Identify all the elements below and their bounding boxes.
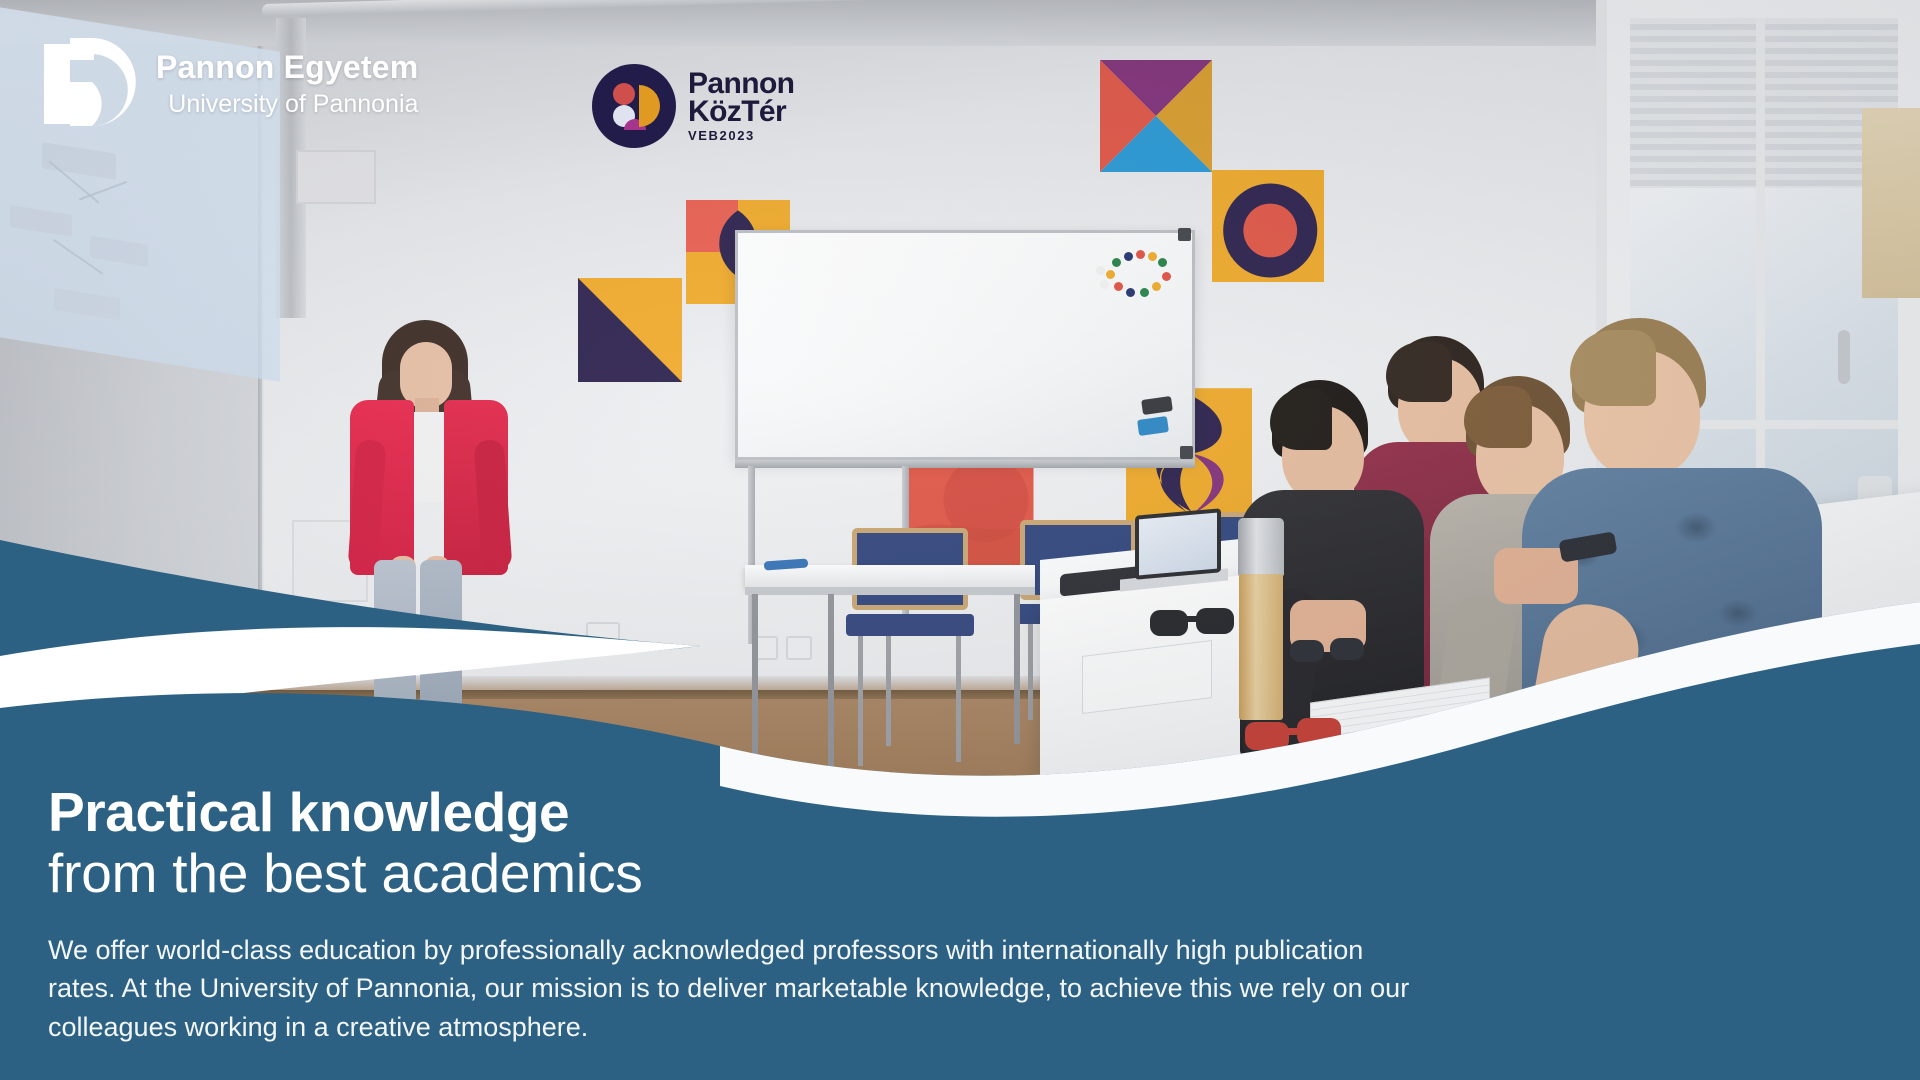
- magnet: [1158, 258, 1167, 267]
- magnet: [1124, 252, 1133, 261]
- brand-lockup: Pannon Egyetem University of Pannonia: [40, 34, 418, 134]
- magnet: [1112, 258, 1121, 267]
- magnet: [1148, 252, 1157, 261]
- magnet: [1136, 250, 1145, 259]
- pannon-p-mark-icon: [40, 34, 136, 134]
- body-line-3: colleagues working in a creative atmosph…: [48, 1008, 1872, 1046]
- whiteboard: [735, 230, 1195, 460]
- kozter-line2: KözTér: [688, 98, 794, 126]
- kozter-line1: Pannon: [688, 70, 794, 98]
- decal-navy-orange-triangles: [578, 278, 682, 382]
- banner-copy: Practical knowledge from the best academ…: [0, 783, 1920, 1080]
- wall-picture-small: [296, 150, 376, 204]
- brand-text: Pannon Egyetem University of Pannonia: [156, 51, 418, 117]
- kozter-line3: VEB2023: [688, 130, 794, 142]
- magnet: [1162, 272, 1171, 281]
- wall-poster-right: [1862, 108, 1920, 298]
- banner-body: We offer world-class education by profes…: [48, 931, 1872, 1046]
- magnet: [1140, 288, 1149, 297]
- pannon-kozter-circle-icon: [592, 64, 676, 148]
- whiteboard-corner: [1180, 446, 1193, 459]
- body-line-2: rates. At the University of Pannonia, ou…: [48, 969, 1872, 1007]
- whiteboard-corner: [1178, 228, 1191, 241]
- whiteboard-tray: [735, 460, 1195, 468]
- magnet: [1096, 266, 1105, 275]
- magnet: [1126, 288, 1135, 297]
- kozter-text: Pannon KözTér VEB2023: [688, 70, 794, 141]
- magnet: [1152, 282, 1161, 291]
- headline-bold: Practical knowledge: [48, 783, 1872, 841]
- magnet: [1114, 282, 1123, 291]
- brand-name-en: University of Pannonia: [156, 92, 418, 117]
- magnet: [1100, 280, 1109, 289]
- headline-light: from the best academics: [48, 843, 1872, 905]
- poster-canvas: Pannon Egyetem University of Pannonia Pa…: [0, 0, 1920, 1080]
- brand-name-hu: Pannon Egyetem: [156, 51, 418, 83]
- window-handle: [1838, 330, 1850, 384]
- magnet: [1106, 270, 1115, 279]
- kozter-lockup: Pannon KözTér VEB2023: [592, 64, 794, 148]
- body-line-1: We offer world-class education by profes…: [48, 931, 1872, 969]
- decal-ring-target: [1212, 170, 1324, 282]
- wave-banner: Practical knowledge from the best academ…: [0, 540, 1920, 1080]
- decal-four-triangles: [1100, 60, 1212, 172]
